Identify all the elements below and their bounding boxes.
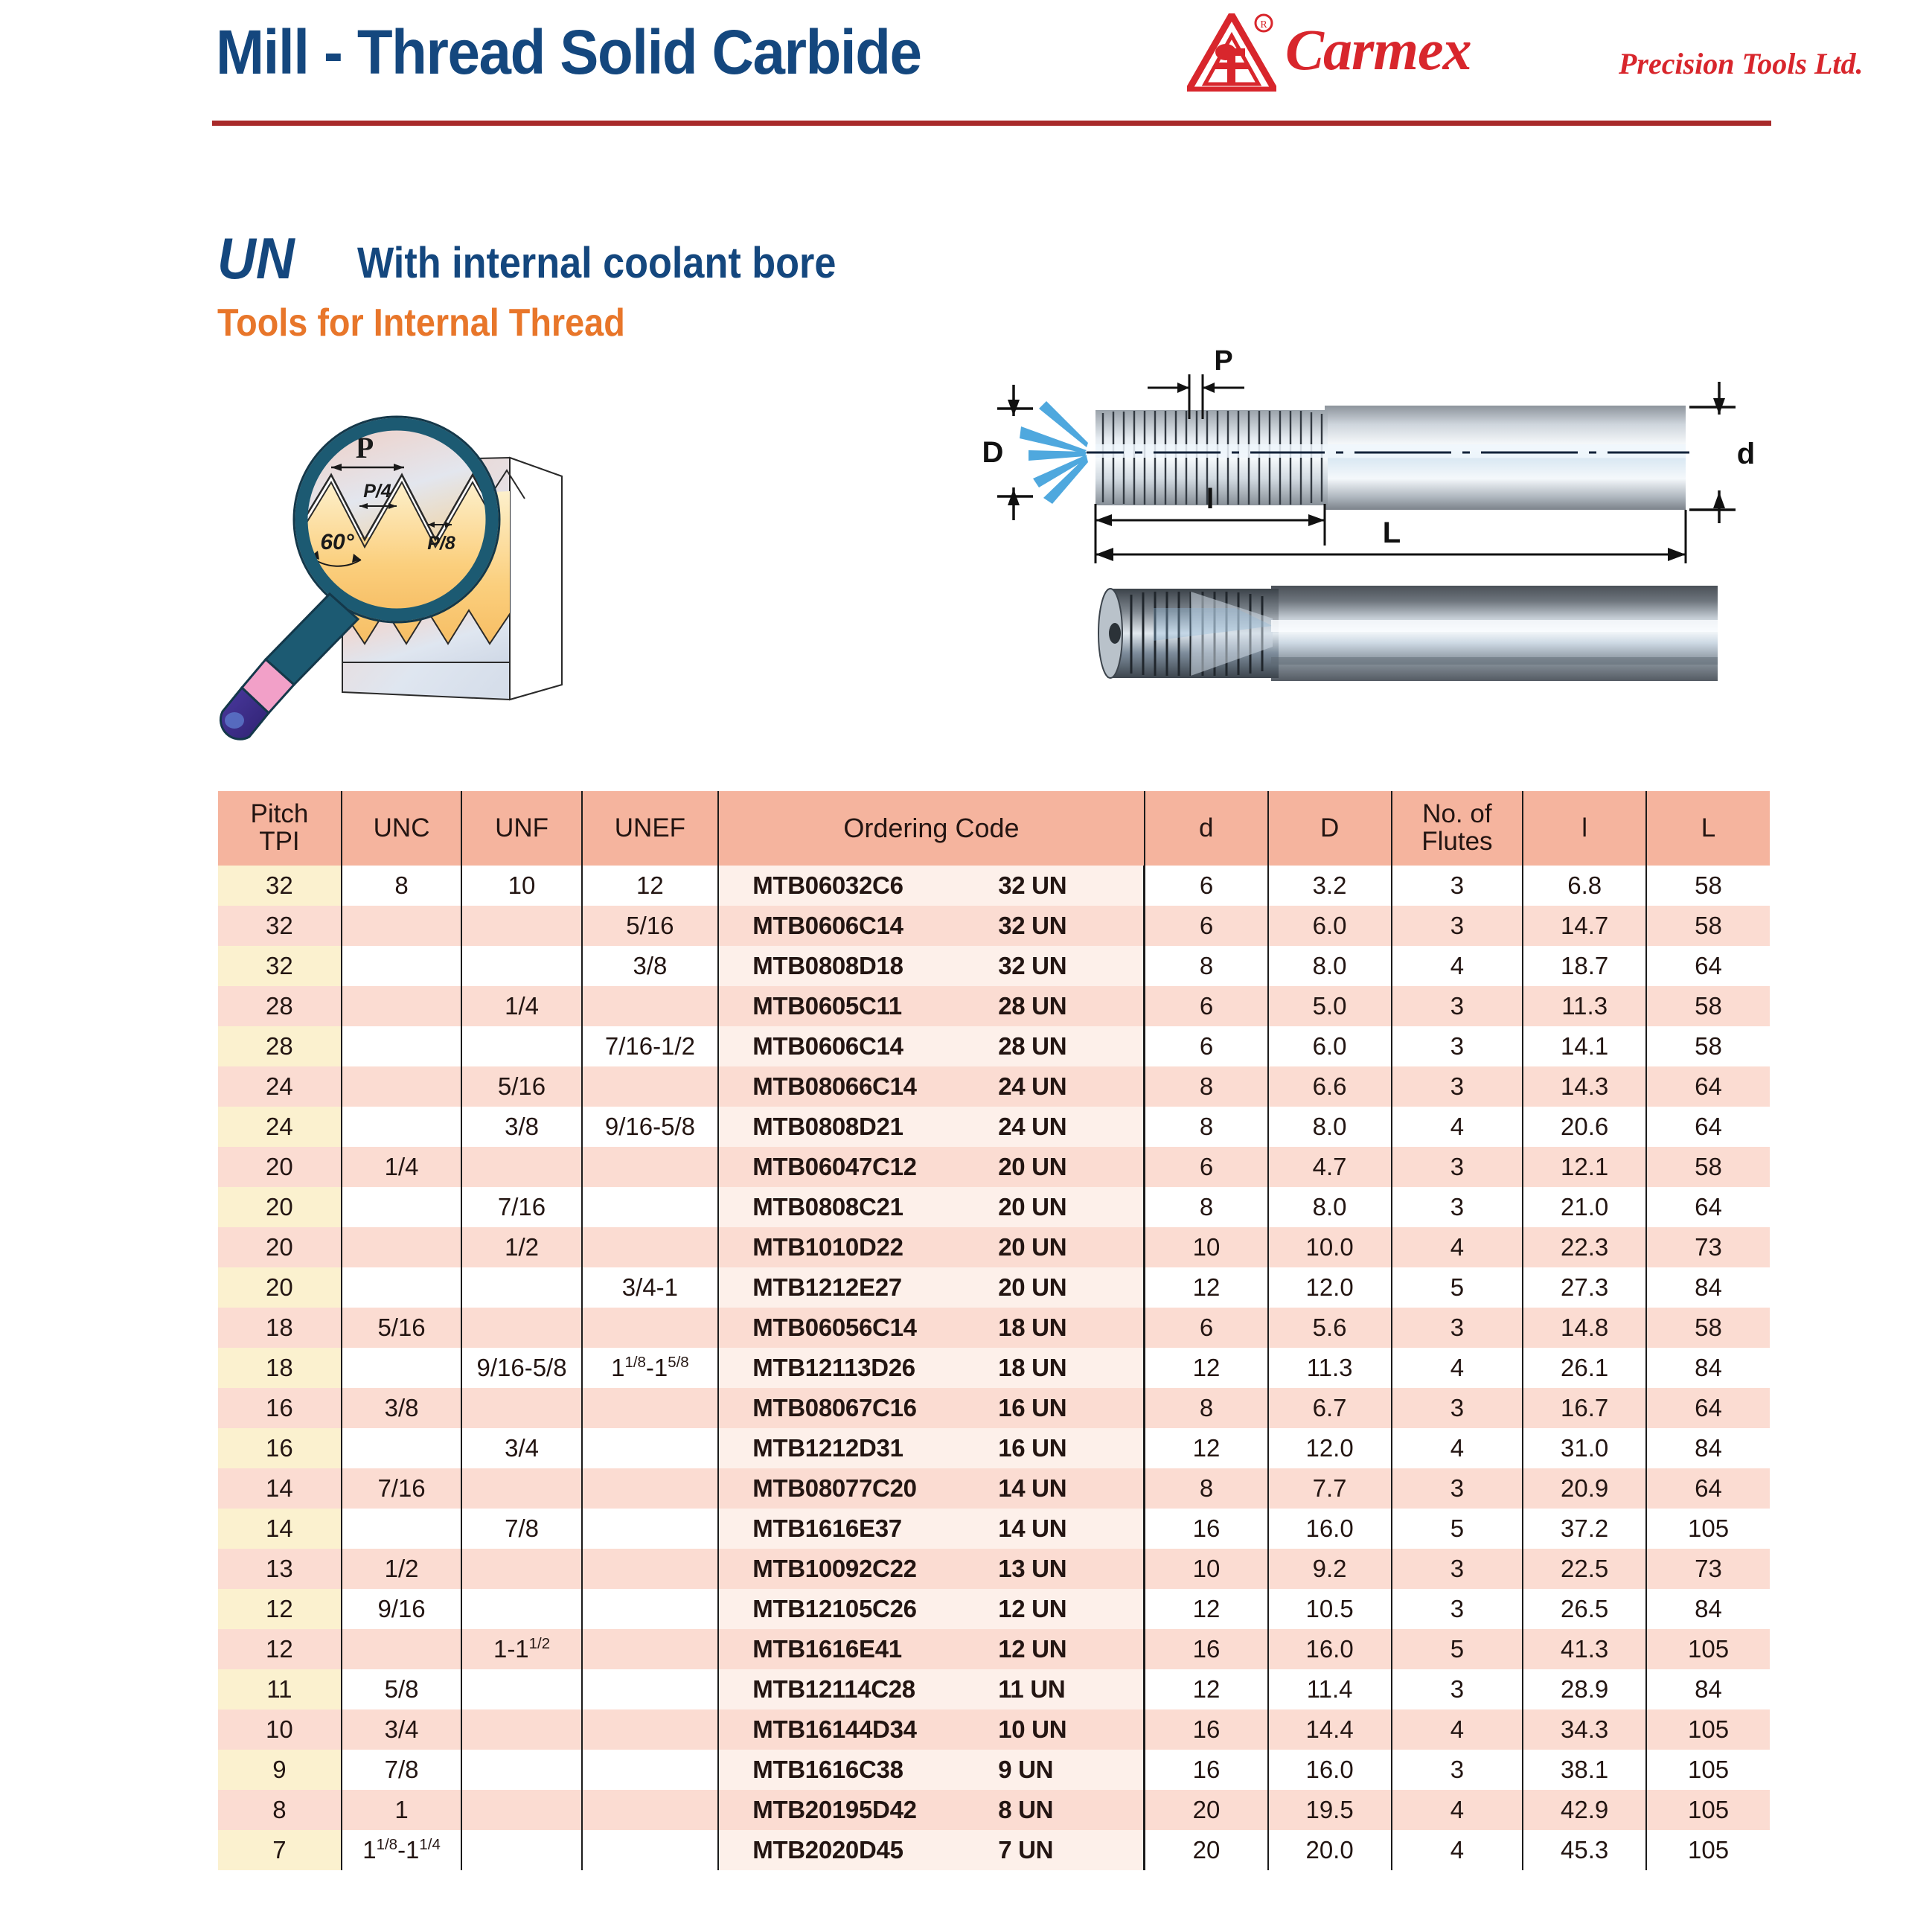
- cell-ordering-code: MTB16144D3410 UN: [718, 1709, 1145, 1750]
- table-row: 201/2MTB1010D2220 UN1010.0422.373: [218, 1227, 1770, 1267]
- ordering-code-suffix: 20 UN: [998, 1154, 1110, 1180]
- cell-L: 64: [1646, 946, 1770, 986]
- cell-unef: 7/16-1/2: [582, 1026, 718, 1066]
- section-code: UN: [217, 225, 295, 292]
- cell-pitch-tpi: 7: [218, 1830, 342, 1870]
- cell-pitch-tpi: 20: [218, 1147, 342, 1187]
- ordering-code-suffix: 9 UN: [998, 1757, 1110, 1783]
- cell-no-of-flutes: 3: [1392, 1669, 1523, 1709]
- ordering-code-suffix: 32 UN: [998, 953, 1110, 979]
- cell-l: 42.9: [1523, 1790, 1646, 1830]
- cell-D: 3.2: [1268, 866, 1392, 906]
- cell-ordering-code: MTB06056C1418 UN: [718, 1308, 1145, 1348]
- cell-d: 12: [1145, 1428, 1268, 1468]
- cell-unef: [582, 1187, 718, 1227]
- cell-ordering-code: MTB1616C389 UN: [718, 1750, 1145, 1790]
- cell-unf: 7/16: [461, 1187, 581, 1227]
- col-header-flutes: No. of Flutes: [1392, 791, 1523, 866]
- cell-unc: [342, 906, 461, 946]
- cell-unf: [461, 1388, 581, 1428]
- col-header-pitch: Pitch TPI: [218, 791, 342, 866]
- cell-pitch-tpi: 20: [218, 1267, 342, 1308]
- cell-no-of-flutes: 3: [1392, 866, 1523, 906]
- cell-unf: [461, 1709, 581, 1750]
- table-row: 129/16MTB12105C2612 UN1210.5326.584: [218, 1589, 1770, 1629]
- cell-l: 14.3: [1523, 1066, 1646, 1107]
- table-row: 147/8MTB1616E3714 UN1616.0537.2105: [218, 1509, 1770, 1549]
- cell-unf: [461, 1308, 581, 1348]
- section-description: With internal coolant bore: [357, 238, 836, 288]
- cell-unf: [461, 906, 581, 946]
- cell-ordering-code: MTB06047C1220 UN: [718, 1147, 1145, 1187]
- cell-L: 105: [1646, 1509, 1770, 1549]
- cell-L: 105: [1646, 1750, 1770, 1790]
- ordering-code-text: MTB10092C22: [752, 1556, 998, 1582]
- cell-pitch-tpi: 32: [218, 866, 342, 906]
- cell-l: 12.1: [1523, 1147, 1646, 1187]
- cell-d: 8: [1145, 1388, 1268, 1428]
- cell-D: 11.3: [1268, 1348, 1392, 1388]
- ordering-code-text: MTB12105C26: [752, 1596, 998, 1622]
- cell-D: 16.0: [1268, 1509, 1392, 1549]
- cell-D: 16.0: [1268, 1629, 1392, 1669]
- cell-unc: 1/2: [342, 1549, 461, 1589]
- table-row: 711/8-11/4MTB2020D457 UN2020.0445.3105: [218, 1830, 1770, 1870]
- cell-pitch-tpi: 18: [218, 1308, 342, 1348]
- table-row: 281/4MTB0605C1128 UN65.0311.358: [218, 986, 1770, 1026]
- cell-l: 11.3: [1523, 986, 1646, 1026]
- ordering-code-text: MTB0605C11: [752, 994, 998, 1020]
- cell-ordering-code: MTB0605C1128 UN: [718, 986, 1145, 1026]
- cell-unc: [342, 1187, 461, 1227]
- cell-d: 10: [1145, 1549, 1268, 1589]
- cell-unc: 5/16: [342, 1308, 461, 1348]
- cell-unef: 3/8: [582, 946, 718, 986]
- ordering-code-suffix: 16 UN: [998, 1436, 1110, 1462]
- cell-l: 41.3: [1523, 1629, 1646, 1669]
- cell-l: 31.0: [1523, 1428, 1646, 1468]
- col-header-unef: UNEF: [582, 791, 718, 866]
- svg-text:P/8: P/8: [427, 533, 455, 554]
- cell-pitch-tpi: 18: [218, 1348, 342, 1388]
- ordering-code-text: MTB1212E27: [752, 1275, 998, 1301]
- cell-unf: [461, 1790, 581, 1830]
- cell-l: 14.7: [1523, 906, 1646, 946]
- ordering-code-suffix: 28 UN: [998, 1034, 1110, 1060]
- cell-L: 105: [1646, 1790, 1770, 1830]
- cell-unf: 3/8: [461, 1107, 581, 1147]
- cell-ordering-code: MTB0606C1428 UN: [718, 1026, 1145, 1066]
- cell-unef: 9/16-5/8: [582, 1107, 718, 1147]
- cell-pitch-tpi: 24: [218, 1066, 342, 1107]
- cell-no-of-flutes: 3: [1392, 1589, 1523, 1629]
- cell-D: 11.4: [1268, 1669, 1392, 1709]
- cell-d: 16: [1145, 1750, 1268, 1790]
- table-row: 115/8MTB12114C2811 UN1211.4328.984: [218, 1669, 1770, 1709]
- page-header: Mill - Thread Solid Carbide R Carmex Pre…: [0, 0, 1932, 138]
- cell-unef: 3/4-1: [582, 1267, 718, 1308]
- svg-text:P/4: P/4: [363, 481, 391, 502]
- ordering-code-suffix: 20 UN: [998, 1235, 1110, 1261]
- ordering-code-text: MTB12114C28: [752, 1677, 998, 1703]
- cell-d: 8: [1145, 1066, 1268, 1107]
- cell-l: 20.6: [1523, 1107, 1646, 1147]
- ordering-code-text: MTB16144D34: [752, 1717, 998, 1743]
- brand-name: Carmex: [1285, 16, 1471, 83]
- cell-unf: 1/2: [461, 1227, 581, 1267]
- ordering-code-suffix: 24 UN: [998, 1074, 1110, 1100]
- cell-unf: 3/4: [461, 1428, 581, 1468]
- table-row: 243/89/16-5/8MTB0808D2124 UN88.0420.664: [218, 1107, 1770, 1147]
- cell-unef: [582, 1388, 718, 1428]
- cell-d: 12: [1145, 1348, 1268, 1388]
- cell-pitch-tpi: 9: [218, 1750, 342, 1790]
- cell-pitch-tpi: 12: [218, 1629, 342, 1669]
- cell-d: 16: [1145, 1709, 1268, 1750]
- table-row: 131/2MTB10092C2213 UN109.2322.573: [218, 1549, 1770, 1589]
- cell-D: 6.6: [1268, 1066, 1392, 1107]
- col-header-ordering-code: Ordering Code: [718, 791, 1145, 866]
- cell-no-of-flutes: 3: [1392, 1066, 1523, 1107]
- thread-mill-photo-icon: [1079, 569, 1756, 700]
- cell-l: 21.0: [1523, 1187, 1646, 1227]
- ordering-code-suffix: 12 UN: [998, 1596, 1110, 1622]
- cell-L: 58: [1646, 1026, 1770, 1066]
- cell-unc: [342, 986, 461, 1026]
- cell-unef: [582, 1428, 718, 1468]
- cell-unf: [461, 1468, 581, 1509]
- cell-L: 73: [1646, 1549, 1770, 1589]
- cell-d: 20: [1145, 1790, 1268, 1830]
- cell-ordering-code: MTB0808D1832 UN: [718, 946, 1145, 986]
- cell-ordering-code: MTB1212E2720 UN: [718, 1267, 1145, 1308]
- cell-l: 16.7: [1523, 1388, 1646, 1428]
- cell-unf: [461, 1830, 581, 1870]
- table-row: 323/8MTB0808D1832 UN88.0418.764: [218, 946, 1770, 986]
- cell-unef: [582, 1830, 718, 1870]
- cell-L: 64: [1646, 1066, 1770, 1107]
- cell-L: 64: [1646, 1388, 1770, 1428]
- table-body: 3281012MTB06032C632 UN63.236.858325/16MT…: [218, 866, 1770, 1870]
- cell-unc: [342, 946, 461, 986]
- cell-d: 8: [1145, 1107, 1268, 1147]
- cell-ordering-code: MTB10092C2213 UN: [718, 1549, 1145, 1589]
- cell-no-of-flutes: 4: [1392, 1428, 1523, 1468]
- col-header-pitch-line1: Pitch: [251, 799, 309, 828]
- ordering-code-text: MTB06032C6: [752, 873, 998, 899]
- ordering-code-text: MTB1616E41: [752, 1637, 998, 1663]
- cell-pitch-tpi: 8: [218, 1790, 342, 1830]
- cell-D: 10.5: [1268, 1589, 1392, 1629]
- cell-ordering-code: MTB0606C1432 UN: [718, 906, 1145, 946]
- cell-unf: 5/16: [461, 1066, 581, 1107]
- thread-mill-dimension-drawing-icon: D d P l L: [975, 339, 1786, 577]
- cell-no-of-flutes: 4: [1392, 1348, 1523, 1388]
- cell-ordering-code: MTB1010D2220 UN: [718, 1227, 1145, 1267]
- cell-ordering-code: MTB1616E4112 UN: [718, 1629, 1145, 1669]
- table-row: 203/4-1MTB1212E2720 UN1212.0527.384: [218, 1267, 1770, 1308]
- cell-unc: [342, 1066, 461, 1107]
- cell-D: 6.0: [1268, 1026, 1392, 1066]
- cell-d: 6: [1145, 1147, 1268, 1187]
- cell-no-of-flutes: 4: [1392, 946, 1523, 986]
- cell-l: 34.3: [1523, 1709, 1646, 1750]
- cell-d: 16: [1145, 1629, 1268, 1669]
- ordering-code-suffix: 14 UN: [998, 1516, 1110, 1542]
- carmex-triangle-logo-icon: R: [1187, 13, 1276, 92]
- cell-ordering-code: MTB1616E3714 UN: [718, 1509, 1145, 1549]
- ordering-code-text: MTB2020D45: [752, 1837, 998, 1864]
- ordering-code-text: MTB1616E37: [752, 1516, 998, 1542]
- cell-unf: [461, 946, 581, 986]
- cell-unc: 1/4: [342, 1147, 461, 1187]
- cell-no-of-flutes: 5: [1392, 1509, 1523, 1549]
- col-header-L: L: [1646, 791, 1770, 866]
- cell-unf: 7/8: [461, 1509, 581, 1549]
- cell-d: 8: [1145, 1187, 1268, 1227]
- cell-no-of-flutes: 3: [1392, 1308, 1523, 1348]
- cell-D: 5.0: [1268, 986, 1392, 1026]
- cell-l: 14.1: [1523, 1026, 1646, 1066]
- cell-pitch-tpi: 13: [218, 1549, 342, 1589]
- cell-unef: [582, 986, 718, 1026]
- cell-pitch-tpi: 28: [218, 986, 342, 1026]
- cell-L: 58: [1646, 1308, 1770, 1348]
- cell-D: 8.0: [1268, 1107, 1392, 1147]
- magnifier-thread-profile-icon: P P/4 P/8 60°: [212, 387, 644, 752]
- cell-l: 22.5: [1523, 1549, 1646, 1589]
- cell-D: 20.0: [1268, 1830, 1392, 1870]
- table-row: 97/8MTB1616C389 UN1616.0338.1105: [218, 1750, 1770, 1790]
- cell-no-of-flutes: 4: [1392, 1227, 1523, 1267]
- ordering-code-text: MTB08067C16: [752, 1395, 998, 1421]
- ordering-code-suffix: 10 UN: [998, 1717, 1110, 1743]
- cell-unef: [582, 1308, 718, 1348]
- cell-unf: 1/4: [461, 986, 581, 1026]
- col-header-flutes-line1: No. of: [1422, 799, 1491, 828]
- cell-L: 84: [1646, 1348, 1770, 1388]
- cell-ordering-code: MTB0808C2120 UN: [718, 1187, 1145, 1227]
- cell-no-of-flutes: 3: [1392, 1187, 1523, 1227]
- cell-D: 6.0: [1268, 906, 1392, 946]
- cell-unf: [461, 1026, 581, 1066]
- specification-table: Pitch TPI UNC UNF UNEF Ordering Code d D…: [218, 791, 1770, 1870]
- cell-unf: 1-11/2: [461, 1629, 581, 1669]
- cell-D: 8.0: [1268, 1187, 1392, 1227]
- ordering-code-text: MTB08066C14: [752, 1074, 998, 1100]
- cell-l: 27.3: [1523, 1267, 1646, 1308]
- cell-d: 20: [1145, 1830, 1268, 1870]
- cell-unef: [582, 1750, 718, 1790]
- cell-l: 18.7: [1523, 946, 1646, 986]
- ordering-code-text: MTB06056C14: [752, 1315, 998, 1341]
- table-row: 103/4MTB16144D3410 UN1614.4434.3105: [218, 1709, 1770, 1750]
- cell-unc: 8: [342, 866, 461, 906]
- cell-unc: 9/16: [342, 1589, 461, 1629]
- label-d: d: [1737, 438, 1755, 470]
- cell-L: 58: [1646, 1147, 1770, 1187]
- ordering-code-text: MTB20195D42: [752, 1797, 998, 1823]
- ordering-code-text: MTB0606C14: [752, 1034, 998, 1060]
- cell-d: 6: [1145, 1308, 1268, 1348]
- ordering-code-suffix: 20 UN: [998, 1275, 1110, 1301]
- cell-L: 58: [1646, 906, 1770, 946]
- cell-D: 14.4: [1268, 1709, 1392, 1750]
- cell-d: 12: [1145, 1669, 1268, 1709]
- cell-d: 10: [1145, 1227, 1268, 1267]
- table-header-row: Pitch TPI UNC UNF UNEF Ordering Code d D…: [218, 791, 1770, 866]
- title-divider: [212, 121, 1771, 126]
- cell-no-of-flutes: 3: [1392, 1468, 1523, 1509]
- table-row: 189/16-5/811/8-15/8MTB12113D2618 UN1211.…: [218, 1348, 1770, 1388]
- cell-ordering-code: MTB08066C1424 UN: [718, 1066, 1145, 1107]
- ordering-code-text: MTB0808D21: [752, 1114, 998, 1140]
- table-row: 81MTB20195D428 UN2019.5442.9105: [218, 1790, 1770, 1830]
- cell-unef: [582, 1790, 718, 1830]
- col-header-pitch-line2: TPI: [259, 827, 299, 856]
- table-row: 3281012MTB06032C632 UN63.236.858: [218, 866, 1770, 906]
- cell-D: 6.7: [1268, 1388, 1392, 1428]
- cell-L: 58: [1646, 866, 1770, 906]
- cell-pitch-tpi: 20: [218, 1187, 342, 1227]
- ordering-code-text: MTB06047C12: [752, 1154, 998, 1180]
- table-row: 163/8MTB08067C1616 UN86.7316.764: [218, 1388, 1770, 1428]
- cell-unef: [582, 1147, 718, 1187]
- cell-unf: [461, 1669, 581, 1709]
- cell-unef: [582, 1468, 718, 1509]
- cell-ordering-code: MTB12114C2811 UN: [718, 1669, 1145, 1709]
- cell-unc: [342, 1629, 461, 1669]
- ordering-code-suffix: 16 UN: [998, 1395, 1110, 1421]
- table-row: 245/16MTB08066C1424 UN86.6314.364: [218, 1066, 1770, 1107]
- cell-L: 73: [1646, 1227, 1770, 1267]
- cell-pitch-tpi: 24: [218, 1107, 342, 1147]
- cell-no-of-flutes: 4: [1392, 1107, 1523, 1147]
- ordering-code-text: MTB12113D26: [752, 1355, 998, 1381]
- cell-D: 19.5: [1268, 1790, 1392, 1830]
- cell-unc: 3/8: [342, 1388, 461, 1428]
- cell-unf: 10: [461, 866, 581, 906]
- cell-L: 64: [1646, 1187, 1770, 1227]
- cell-D: 9.2: [1268, 1549, 1392, 1589]
- cell-unf: [461, 1147, 581, 1187]
- cell-D: 12.0: [1268, 1267, 1392, 1308]
- ordering-code-text: MTB08077C20: [752, 1476, 998, 1502]
- cell-pitch-tpi: 32: [218, 946, 342, 986]
- cell-unc: 5/8: [342, 1669, 461, 1709]
- cell-l: 37.2: [1523, 1509, 1646, 1549]
- cell-L: 105: [1646, 1629, 1770, 1669]
- cell-unc: 1: [342, 1790, 461, 1830]
- cell-L: 84: [1646, 1428, 1770, 1468]
- cell-pitch-tpi: 14: [218, 1509, 342, 1549]
- cell-unc: [342, 1509, 461, 1549]
- cell-no-of-flutes: 4: [1392, 1709, 1523, 1750]
- ordering-code-suffix: 13 UN: [998, 1556, 1110, 1582]
- cell-d: 12: [1145, 1589, 1268, 1629]
- cell-unef: [582, 1509, 718, 1549]
- ordering-code-text: MTB0808C21: [752, 1194, 998, 1221]
- cell-pitch-tpi: 16: [218, 1428, 342, 1468]
- table-row: 147/16MTB08077C2014 UN87.7320.964: [218, 1468, 1770, 1509]
- cell-pitch-tpi: 28: [218, 1026, 342, 1066]
- cell-unf: [461, 1267, 581, 1308]
- cell-d: 8: [1145, 1468, 1268, 1509]
- cell-l: 14.8: [1523, 1308, 1646, 1348]
- ordering-code-suffix: 14 UN: [998, 1476, 1110, 1502]
- cell-no-of-flutes: 5: [1392, 1629, 1523, 1669]
- cell-unc: [342, 1267, 461, 1308]
- cell-ordering-code: MTB0808D2124 UN: [718, 1107, 1145, 1147]
- label-L: L: [1383, 516, 1401, 549]
- table-row: 207/16MTB0808C2120 UN88.0321.064: [218, 1187, 1770, 1227]
- cell-unc: [342, 1348, 461, 1388]
- cell-pitch-tpi: 20: [218, 1227, 342, 1267]
- ordering-code-suffix: 12 UN: [998, 1637, 1110, 1663]
- col-header-l: l: [1523, 791, 1646, 866]
- cell-ordering-code: MTB08077C2014 UN: [718, 1468, 1145, 1509]
- cell-no-of-flutes: 3: [1392, 1549, 1523, 1589]
- cell-pitch-tpi: 10: [218, 1709, 342, 1750]
- cell-unc: [342, 1026, 461, 1066]
- ordering-code-text: MTB1212D31: [752, 1436, 998, 1462]
- cell-no-of-flutes: 4: [1392, 1830, 1523, 1870]
- ordering-code-suffix: 11 UN: [998, 1677, 1110, 1703]
- cell-unef: [582, 1709, 718, 1750]
- cell-ordering-code: MTB1212D3116 UN: [718, 1428, 1145, 1468]
- col-header-D: D: [1268, 791, 1392, 866]
- col-header-flutes-line2: Flutes: [1421, 827, 1492, 856]
- cell-ordering-code: MTB12113D2618 UN: [718, 1348, 1145, 1388]
- cell-l: 26.5: [1523, 1589, 1646, 1629]
- cell-unef: [582, 1227, 718, 1267]
- ordering-code-suffix: 24 UN: [998, 1114, 1110, 1140]
- ordering-code-suffix: 20 UN: [998, 1194, 1110, 1221]
- cell-unef: 12: [582, 866, 718, 906]
- cell-D: 8.0: [1268, 946, 1392, 986]
- cell-ordering-code: MTB12105C2612 UN: [718, 1589, 1145, 1629]
- cell-D: 10.0: [1268, 1227, 1392, 1267]
- cell-l: 28.9: [1523, 1669, 1646, 1709]
- label-P: P: [1214, 345, 1232, 377]
- cell-unef: 5/16: [582, 906, 718, 946]
- ordering-code-suffix: 28 UN: [998, 994, 1110, 1020]
- cell-ordering-code: MTB08067C1616 UN: [718, 1388, 1145, 1428]
- cell-unf: [461, 1549, 581, 1589]
- svg-text:R: R: [1260, 19, 1267, 31]
- cell-L: 84: [1646, 1267, 1770, 1308]
- cell-d: 6: [1145, 906, 1268, 946]
- cell-L: 84: [1646, 1589, 1770, 1629]
- cell-ordering-code: MTB20195D428 UN: [718, 1790, 1145, 1830]
- cell-D: 12.0: [1268, 1428, 1392, 1468]
- cell-L: 64: [1646, 1468, 1770, 1509]
- cell-pitch-tpi: 32: [218, 906, 342, 946]
- cell-no-of-flutes: 4: [1392, 1790, 1523, 1830]
- cell-D: 7.7: [1268, 1468, 1392, 1509]
- ordering-code-text: MTB0808D18: [752, 953, 998, 979]
- cell-d: 8: [1145, 946, 1268, 986]
- section-subtitle: Tools for Internal Thread: [217, 301, 625, 345]
- cell-unc: [342, 1428, 461, 1468]
- cell-d: 6: [1145, 1026, 1268, 1066]
- cell-L: 84: [1646, 1669, 1770, 1709]
- svg-text:60°: 60°: [320, 530, 354, 554]
- table-row: 163/4MTB1212D3116 UN1212.0431.084: [218, 1428, 1770, 1468]
- cell-pitch-tpi: 16: [218, 1388, 342, 1428]
- cell-D: 4.7: [1268, 1147, 1392, 1187]
- cell-no-of-flutes: 3: [1392, 1388, 1523, 1428]
